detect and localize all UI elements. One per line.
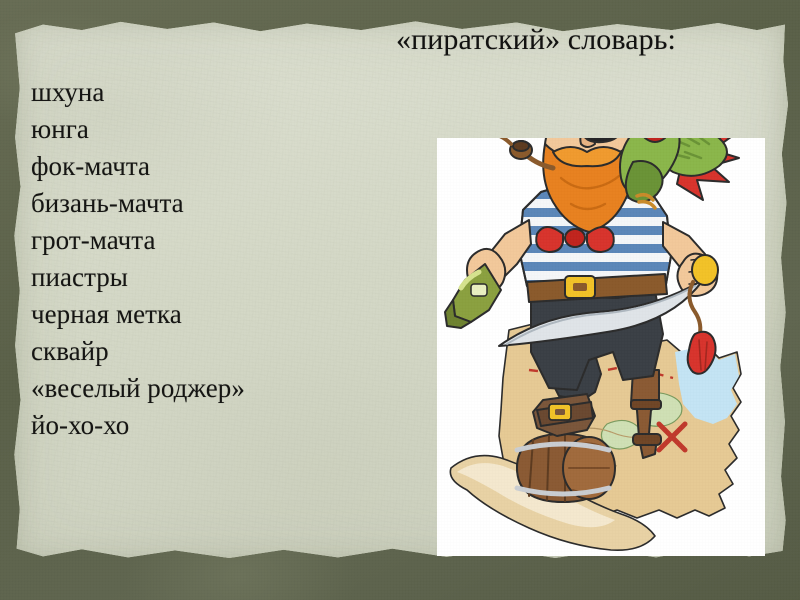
list-item: черная метка <box>31 296 431 333</box>
pirate-boot <box>533 394 595 436</box>
list-item: пиастры <box>31 259 431 296</box>
pirate-image-panel <box>437 138 765 556</box>
list-item: йо-хо-хо <box>31 407 431 444</box>
page-title: «пиратский» словарь: <box>0 23 676 58</box>
vocabulary-list: шхуна юнга фок-мачта бизань-мачта грот-м… <box>31 74 431 444</box>
list-item: шхуна <box>31 74 431 111</box>
list-item: грот-мачта <box>31 222 431 259</box>
wooden-barrel <box>517 434 615 502</box>
list-item: бизань-мачта <box>31 185 431 222</box>
pirate-illustration-icon <box>437 138 765 556</box>
list-item: юнга <box>31 111 431 148</box>
slide-root: «пиратский» словарь: шхуна юнга фок-мачт… <box>0 0 800 600</box>
list-item: фок-мачта <box>31 148 431 185</box>
slide-content: «пиратский» словарь: шхуна юнга фок-мачт… <box>0 0 800 600</box>
list-item: сквайр <box>31 333 431 370</box>
list-item: «веселый роджер» <box>31 370 431 407</box>
